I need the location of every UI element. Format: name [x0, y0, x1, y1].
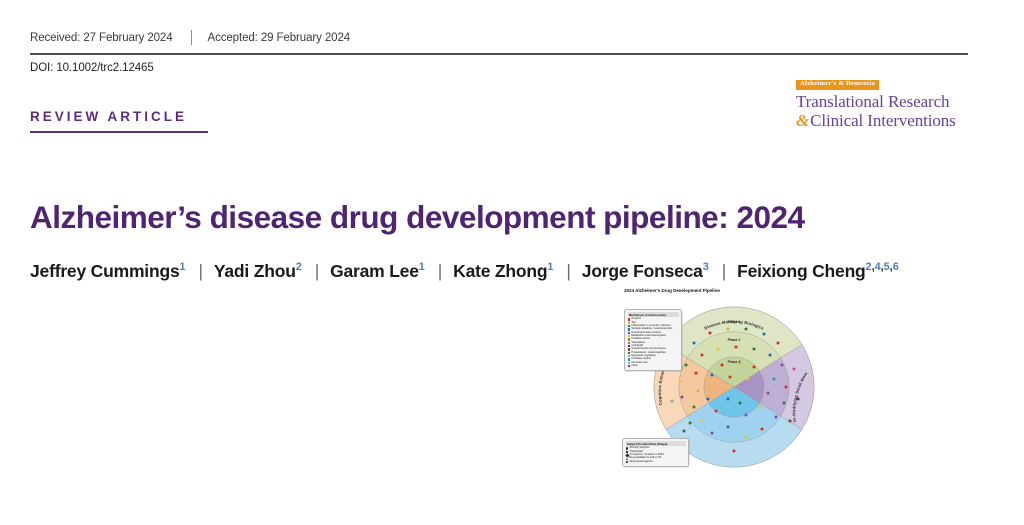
author-separator: |: [302, 261, 330, 281]
legend-color-swatch: [628, 358, 631, 360]
journal-logo-line1: Translational Research: [796, 92, 968, 111]
legend-color-swatch: [628, 318, 631, 320]
author-affiliation: 2: [296, 261, 302, 273]
legend-color-swatch: [628, 325, 631, 327]
legend-color-swatch: [628, 345, 631, 347]
page-title: Alzheimer’s disease drug development pip…: [30, 199, 930, 235]
journal-logo: Alzheimer's & Dementia Translational Res…: [796, 72, 968, 130]
accepted-date: Accepted: 29 February 2024: [208, 32, 351, 44]
legend-shape-marker: [626, 458, 628, 460]
legend-color-swatch: [628, 322, 631, 324]
legend-item-label: Repurposed Agents: [630, 461, 653, 464]
legend-color-swatch: [628, 335, 631, 337]
legend-color-swatch: [628, 348, 631, 350]
legend-color-swatch: [628, 352, 631, 354]
legend-item: Repurposed Agents: [626, 461, 686, 464]
legend-color-swatch: [628, 355, 631, 357]
legend-mechanism-of-action: Mechanism of Action (color) AmyloidTauIn…: [624, 309, 682, 371]
author-name: Yadi Zhou2: [214, 261, 302, 281]
legend-item-label: Other: [631, 365, 638, 368]
header-rule: [30, 53, 968, 55]
phase-label-1: Phase 1: [728, 320, 741, 324]
date-divider: [191, 30, 192, 45]
phase-label-3: Phase 3: [728, 360, 741, 364]
legend-color-swatch: [628, 362, 631, 364]
legend-shape-items: Monthly SubjectsTrial EndedCompletion / …: [626, 447, 686, 463]
pipeline-figure: 2024 Alzheimer's Drug Development Pipeli…: [620, 288, 832, 486]
author-name: Feixiong Cheng2,4,5,6: [737, 261, 899, 281]
author-separator: |: [186, 261, 214, 281]
legend-moa-items: AmyloidTauInflammation / immunity / infe…: [628, 318, 679, 367]
journal-logo-line2-wrap: &Clinical Interventions: [796, 111, 968, 130]
author-affiliation: 2,4,5,6: [866, 261, 899, 273]
author-list: Jeffrey Cummings1|Yadi Zhou2|Garam Lee1|…: [30, 258, 970, 285]
legend-color-swatch: [628, 332, 631, 334]
legend-color-swatch: [628, 342, 631, 344]
author-affiliation: 3: [703, 261, 709, 273]
phase-label-2: Phase 2: [728, 338, 741, 342]
legend-subject-rate: Subject Provided Rate (Shape) Monthly Su…: [622, 438, 689, 467]
author-affiliation: 1: [179, 261, 185, 273]
article-type: REVIEW ARTICLE: [30, 110, 208, 133]
journal-logo-line2: Clinical Interventions: [810, 111, 956, 130]
author-affiliation: 1: [419, 261, 425, 273]
doi-text: DOI: 10.1002/trc2.12465: [30, 62, 154, 74]
author-name: Kate Zhong1: [453, 261, 553, 281]
author-name: Garam Lee1: [330, 261, 425, 281]
article-type-label: REVIEW ARTICLE: [30, 110, 208, 125]
legend-shape-marker: [626, 461, 629, 464]
author-name: Jeffrey Cummings1: [30, 261, 186, 281]
article-type-rule: [30, 131, 208, 133]
journal-logo-banner: Alzheimer's & Dementia: [796, 80, 879, 90]
legend-color-swatch: [628, 365, 631, 367]
author-separator: |: [553, 261, 581, 281]
author-separator: |: [425, 261, 453, 281]
author-separator: |: [709, 261, 737, 281]
legend-item: Other: [628, 365, 679, 368]
figure-title: 2024 Alzheimer's Drug Development Pipeli…: [624, 288, 720, 293]
author-name: Jorge Fonseca3: [582, 261, 709, 281]
received-date: Received: 27 February 2024: [30, 32, 173, 44]
journal-logo-ampersand: &: [796, 111, 810, 130]
publication-dates: Received: 27 February 2024 Accepted: 29 …: [30, 30, 968, 45]
legend-color-swatch: [628, 338, 631, 340]
legend-color-swatch: [628, 328, 631, 330]
